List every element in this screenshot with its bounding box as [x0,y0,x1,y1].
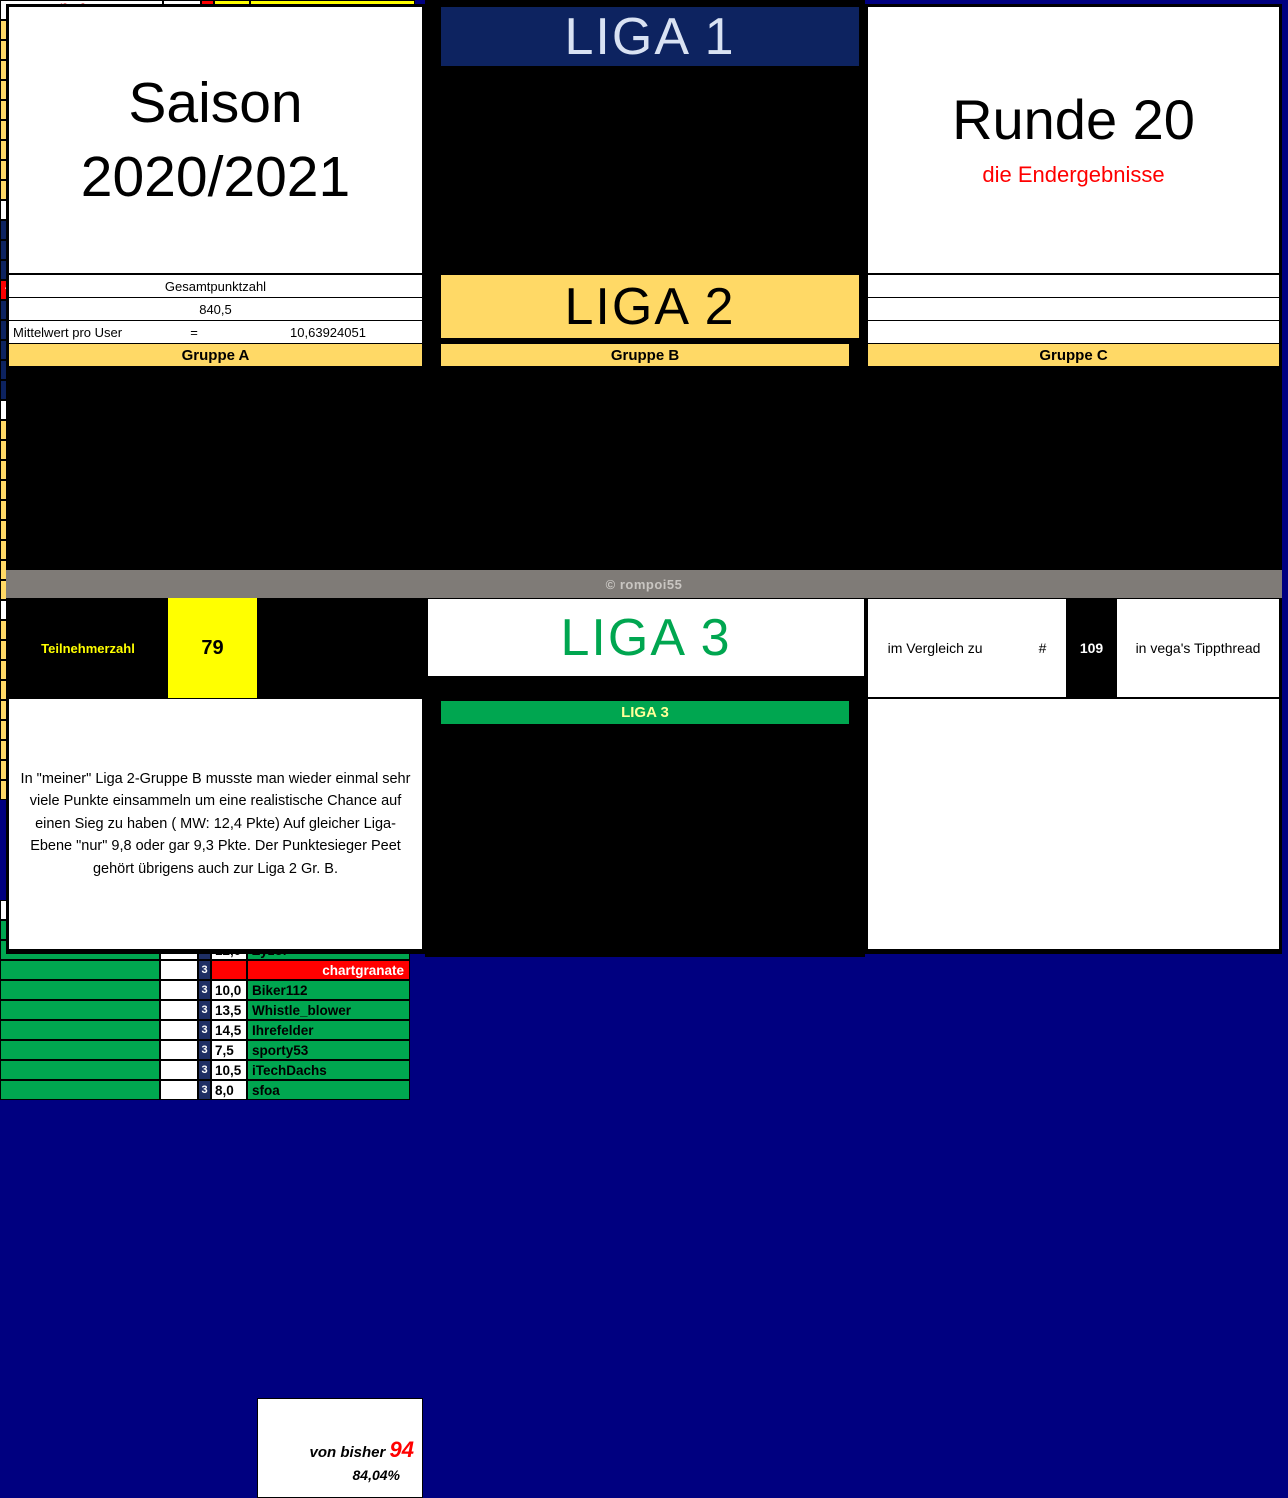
score-left [160,960,198,980]
score-right: 8,0 [211,1080,247,1100]
score-right: 14,5 [211,1020,247,1040]
player-right: iTechDachs [247,1060,410,1080]
gruppe-b-header: Gruppe B [440,343,850,367]
von-bisher-box: von bisher 94 84,04% [257,1398,423,1498]
liga2-title-panel: LIGA 2 [440,274,860,339]
round-marker: 3 [198,1080,211,1100]
player-left [0,980,160,1000]
comparison-value: 109 [1080,640,1103,656]
copyright-bar: © rompoi55 [6,570,1282,598]
gruppe-a-title: Gruppe A [182,347,250,364]
runde-subtitle: die Endergebnisse [982,162,1164,188]
table-row: 313,5Whistle_blower [0,1000,410,1020]
player-left [0,1000,160,1020]
score-left [160,1000,198,1020]
gruppe-c-header: Gruppe C [867,343,1280,367]
score-right [211,960,247,980]
liga3-title-panel: LIGA 3 [427,598,865,677]
poster-root: Saison 2020/2021 Gesamtpunktzahl 840,5 M… [0,0,1288,957]
liga3-bar-label: LIGA 3 [621,704,669,721]
table-row: 310,0Biker112 [0,980,410,1000]
commentary-box: In "meiner" Liga 2-Gruppe B musste man w… [8,698,423,950]
runde-title: Runde 20 [952,92,1195,148]
player-right: Biker112 [247,980,410,1000]
player-right: sporty53 [247,1040,410,1060]
mittelwert-label: Mittelwert pro User [9,325,154,340]
liga1-title: LIGA 1 [565,7,736,67]
gesamtpunktzahl-label: Gesamtpunktzahl [9,279,422,294]
liga3-title: LIGA 3 [561,608,732,668]
mittelwert-row: Mittelwert pro User = 10,63924051 [8,320,423,344]
player-right: chartgranate [247,960,410,980]
score-right: 13,5 [211,1000,247,1020]
round-marker: 3 [198,980,211,1000]
right-blank-row-1 [867,274,1280,298]
saison-panel: Saison 2020/2021 [8,6,423,274]
comparison-label-box: im Vergleich zu # [867,598,1067,698]
middle-column [425,0,865,957]
player-right: Whistle_blower [247,1000,410,1020]
table-row: 310,5iTechDachs [0,1060,410,1080]
teilnehmerzahl-label-box: Teilnehmerzahl [8,598,168,698]
score-right: 7,5 [211,1040,247,1060]
table-row: 3chartgranate [0,960,410,980]
player-left [0,960,160,980]
copyright-text: © rompoi55 [606,577,683,592]
gesamtpunktzahl-value-row: 840,5 [8,297,423,321]
von-bisher-line: von bisher 94 [258,1437,414,1463]
score-left [160,1060,198,1080]
comparison-suffix: in vega's Tippthread [1136,640,1261,656]
mittelwert-value: 10,63924051 [234,325,422,340]
runde-panel: Runde 20 die Endergebnisse [867,6,1280,274]
von-bisher-label: von bisher [309,1444,385,1461]
player-left [0,1020,160,1040]
comparison-hash: # [1039,640,1047,656]
table-row: 38,0sfoa [0,1080,410,1100]
score-left [160,1020,198,1040]
player-right: Ihrefelder [247,1020,410,1040]
right-bottom-blank [867,698,1280,950]
mittelwert-equals: = [154,325,234,340]
player-left [0,1080,160,1100]
player-left [0,1040,160,1060]
liga2-title: LIGA 2 [565,277,736,337]
saison-line-1: Saison [81,66,350,140]
liga3-bar: LIGA 3 [440,700,850,725]
right-blank-row-3 [867,320,1280,344]
gruppe-b-title: Gruppe B [611,347,679,364]
comparison-suffix-box: in vega's Tippthread [1116,598,1280,698]
score-left [160,1040,198,1060]
right-blank-row-2 [867,297,1280,321]
table-row: 314,5Ihrefelder [0,1020,410,1040]
percent-value: 84,04% [258,1467,400,1483]
gruppe-a-header: Gruppe A [8,343,423,367]
gesamtpunktzahl-row: Gesamtpunktzahl [8,274,423,298]
player-left [0,1060,160,1080]
teilnehmerzahl-value-box: 79 [168,598,257,698]
gesamtpunktzahl-value: 840,5 [9,302,422,317]
liga1-title-panel: LIGA 1 [440,6,860,67]
comparison-label: im Vergleich zu [888,640,983,656]
von-bisher-value: 94 [390,1437,414,1462]
round-marker: 3 [198,1020,211,1040]
saison-line-2: 2020/2021 [81,140,350,214]
teilnehmerzahl-label: Teilnehmerzahl [41,641,135,656]
round-marker: 3 [198,1040,211,1060]
score-left [160,980,198,1000]
player-right: sfoa [247,1080,410,1100]
score-left [160,1080,198,1100]
commentary-text: In "meiner" Liga 2-Gruppe B musste man w… [17,768,414,880]
round-marker: 3 [198,960,211,980]
gruppe-c-title: Gruppe C [1039,347,1107,364]
teilnehmerzahl-value: 79 [201,637,223,660]
score-right: 10,5 [211,1060,247,1080]
table-row: 37,5sporty53 [0,1040,410,1060]
round-marker: 3 [198,1000,211,1020]
score-right: 10,0 [211,980,247,1000]
round-marker: 3 [198,1060,211,1080]
saison-title: Saison 2020/2021 [81,66,350,214]
comparison-value-box: 109 [1067,598,1116,698]
